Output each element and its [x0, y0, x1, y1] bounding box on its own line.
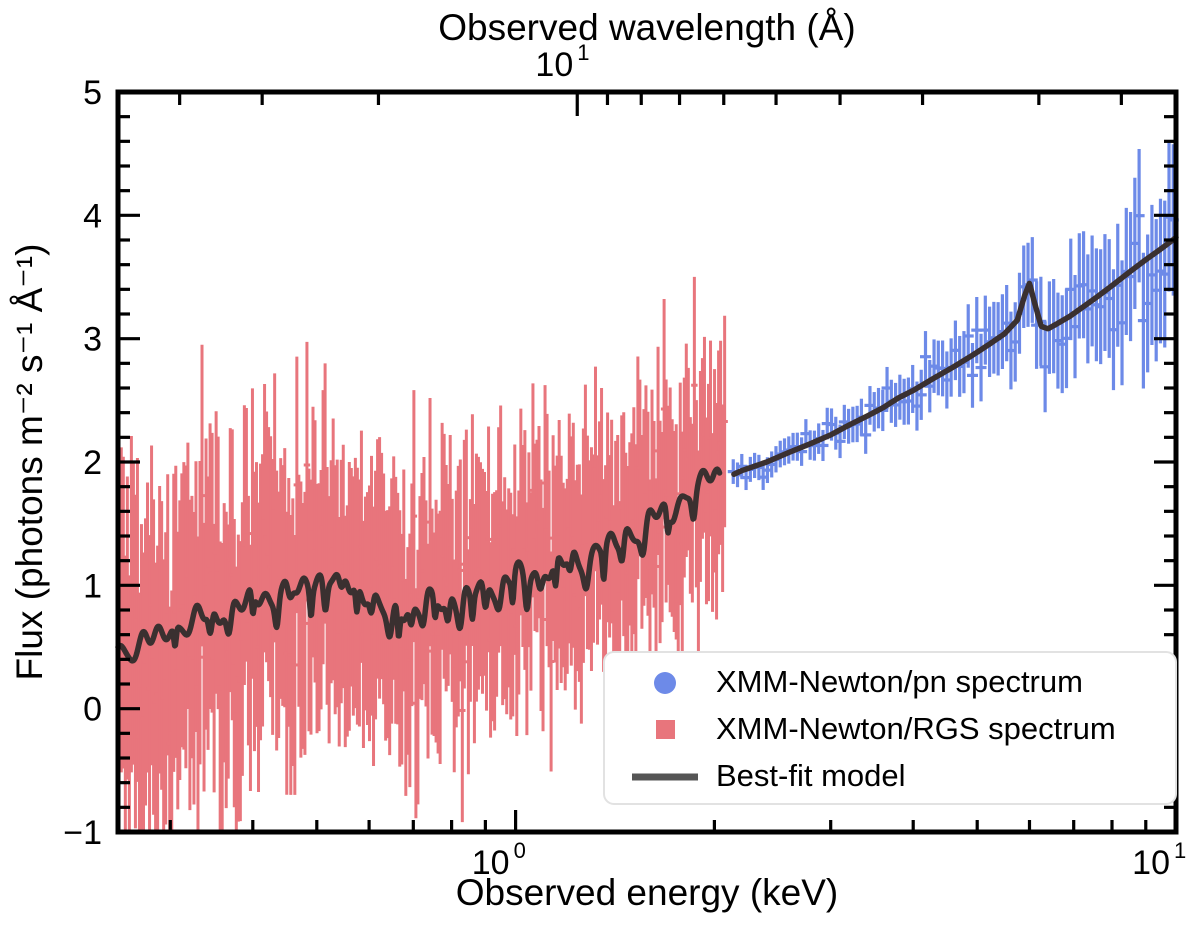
legend-label: Best-fit model — [716, 758, 906, 793]
legend-item[interactable]: XMM-Newton/pn spectrum — [654, 664, 1083, 699]
svg-text:10: 10 — [535, 46, 573, 84]
legend-marker-square-icon — [656, 720, 675, 739]
plot-canvas: Observed wavelength (Å) 101 Observed ene… — [0, 0, 1200, 929]
x-axis-title: Observed energy (keV) — [456, 872, 839, 913]
svg-text:10: 10 — [1132, 844, 1170, 882]
top-axis-title: Observed wavelength (Å) — [438, 7, 855, 48]
legend: XMM-Newton/pn spectrumXMM-Newton/RGS spe… — [604, 652, 1176, 804]
y-tick-label: 0 — [83, 691, 102, 729]
y-tick-label: 1 — [83, 567, 102, 605]
y-tick-label: 2 — [83, 444, 102, 482]
svg-text:1: 1 — [1174, 838, 1186, 863]
y-tick-label: 4 — [83, 197, 102, 235]
legend-marker-circle-icon — [654, 672, 676, 694]
svg-text:10: 10 — [472, 844, 510, 882]
svg-text:1: 1 — [577, 40, 589, 65]
svg-text:0: 0 — [514, 838, 526, 863]
legend-item[interactable]: XMM-Newton/RGS spectrum — [656, 711, 1116, 746]
y-tick-label: 3 — [83, 321, 102, 359]
legend-label: XMM-Newton/pn spectrum — [716, 664, 1083, 699]
spectrum-figure: Observed wavelength (Å) 101 Observed ene… — [0, 0, 1200, 929]
legend-label: XMM-Newton/RGS spectrum — [716, 711, 1116, 746]
y-tick-label: 5 — [83, 74, 102, 112]
y-tick-label: −1 — [63, 814, 102, 852]
y-axis-title: Flux (photons m⁻² s⁻¹ Å⁻¹) — [9, 244, 50, 681]
